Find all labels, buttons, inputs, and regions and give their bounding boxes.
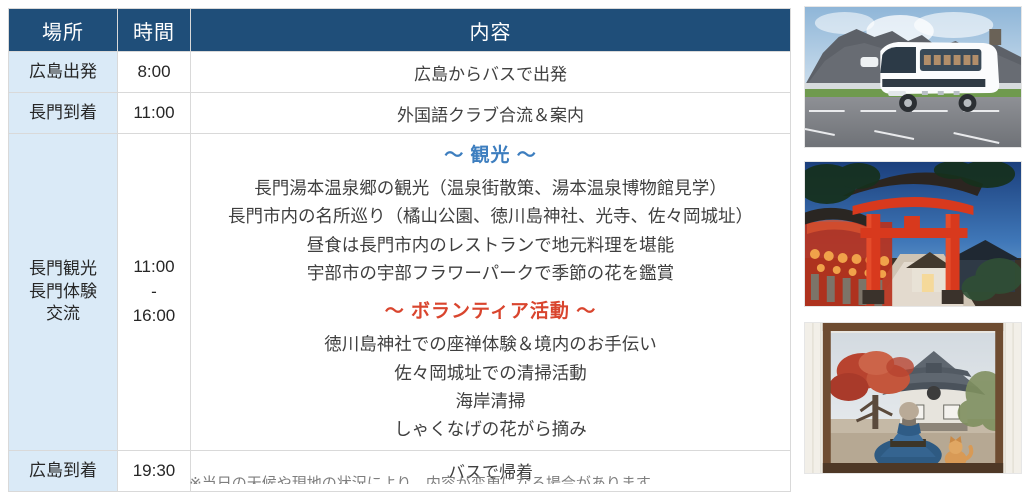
cell-place: 広島出発 [9,52,118,93]
cell-content-activities: 〜 観光 〜 長門湯本温泉郷の観光（温泉街散策、湯本温泉博物館見学） 長門市内の… [191,134,791,451]
activity-line: 佐々岡城址での清掃活動 [197,359,784,387]
column-header-content: 内容 [191,9,791,52]
schedule-table: 場所 時間 内容 広島出発 8:00 広島からバスで出発 長門到着 11:00 … [8,8,791,492]
cell-time: 19:30 [118,450,191,491]
table-row-main-activity: 長門観光 長門体験 交流 11:00 - 16:00 〜 観光 〜 長門湯本温泉… [9,134,791,451]
cell-place: 広島到着 [9,450,118,491]
column-header-time: 時間 [118,9,191,52]
activity-line: 長門市内の名所巡り（橘山公園、徳川島神社、光寺、佐々岡城址） [197,202,784,230]
table-header-row: 場所 時間 内容 [9,9,791,52]
cell-content: 外国語クラブ合流＆案内 [191,93,791,134]
activity-line: 宇部市の宇部フラワーパークで季節の花を鑑賞 [197,259,784,287]
column-header-place: 場所 [9,9,118,52]
table-row: 広島到着 19:30 バスで帰着 [9,450,791,491]
activity-line: 海岸清掃 [197,387,784,415]
cell-content: 広島からバスで出発 [191,52,791,93]
section-heading-sightseeing: 〜 観光 〜 [197,140,784,167]
photo-monk-meditating-temple [804,322,1022,474]
photo-tour-bus-on-highway [804,6,1022,148]
cell-place: 長門観光 長門体験 交流 [9,134,118,451]
cell-time: 11:00 [118,93,191,134]
itinerary-page: 場所 時間 内容 広島出発 8:00 広島からバスで出発 長門到着 11:00 … [0,0,1029,484]
cell-place: 長門到着 [9,93,118,134]
photo-red-torii-gate-shrine [804,161,1022,307]
activity-line: 昼食は長門市内のレストランで地元料理を堪能 [197,231,784,259]
activity-line: 長門湯本温泉郷の観光（温泉街散策、湯本温泉博物館見学） [197,174,784,202]
activity-line: しゃくなげの花がら摘み [197,415,784,443]
section-heading-volunteer: 〜 ボランティア活動 〜 [197,296,784,323]
cell-content: バスで帰着 [191,450,791,491]
cell-time: 11:00 - 16:00 [118,134,191,451]
footnote-text: ※当日の天候や現地の状況により、内容が変更になる場合があります [60,474,780,484]
table-row: 広島出発 8:00 広島からバスで出発 [9,52,791,93]
activity-line: 徳川島神社での座禅体験＆境内のお手伝い [197,330,784,358]
cell-time: 8:00 [118,52,191,93]
table-row: 長門到着 11:00 外国語クラブ合流＆案内 [9,93,791,134]
